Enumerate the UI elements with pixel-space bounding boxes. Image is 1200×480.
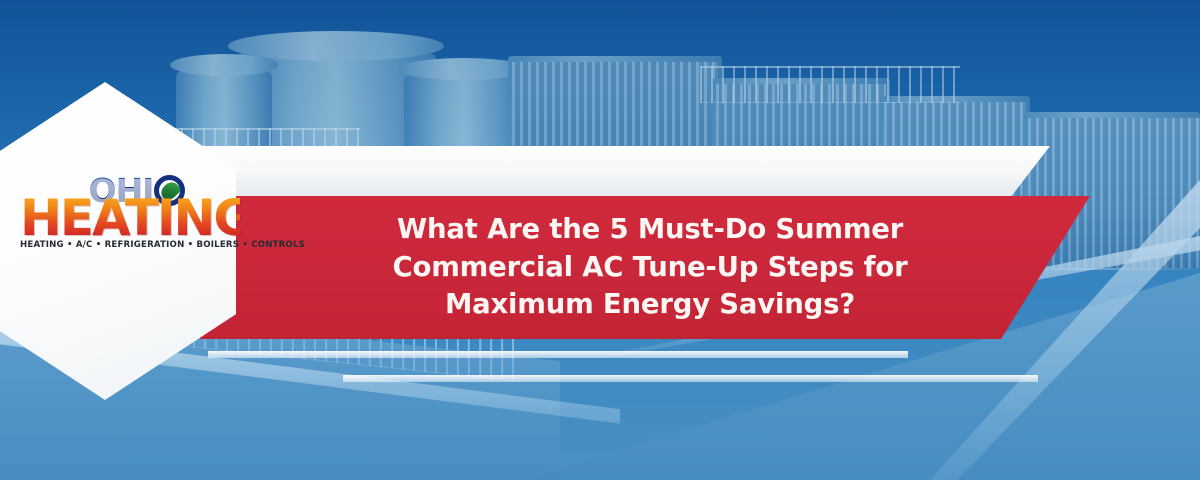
logo-heating-wordmark: HEATING xyxy=(20,198,240,239)
decorative-rule-top xyxy=(208,351,908,358)
headline-line-3: Maximum Energy Savings? xyxy=(445,286,855,323)
decorative-rule-bottom xyxy=(343,375,1038,382)
headline-line-1: What Are the 5 Must-Do Summer xyxy=(397,211,903,248)
page-title: What Are the 5 Must-Do Summer Commercial… xyxy=(300,196,1000,339)
headline-line-2: Commercial AC Tune-Up Steps for xyxy=(393,249,908,286)
hero-banner: What Are the 5 Must-Do Summer Commercial… xyxy=(0,0,1200,480)
company-logo[interactable]: OHI HEATING HEATING • A/C • REFRIGERATIO… xyxy=(20,175,240,250)
